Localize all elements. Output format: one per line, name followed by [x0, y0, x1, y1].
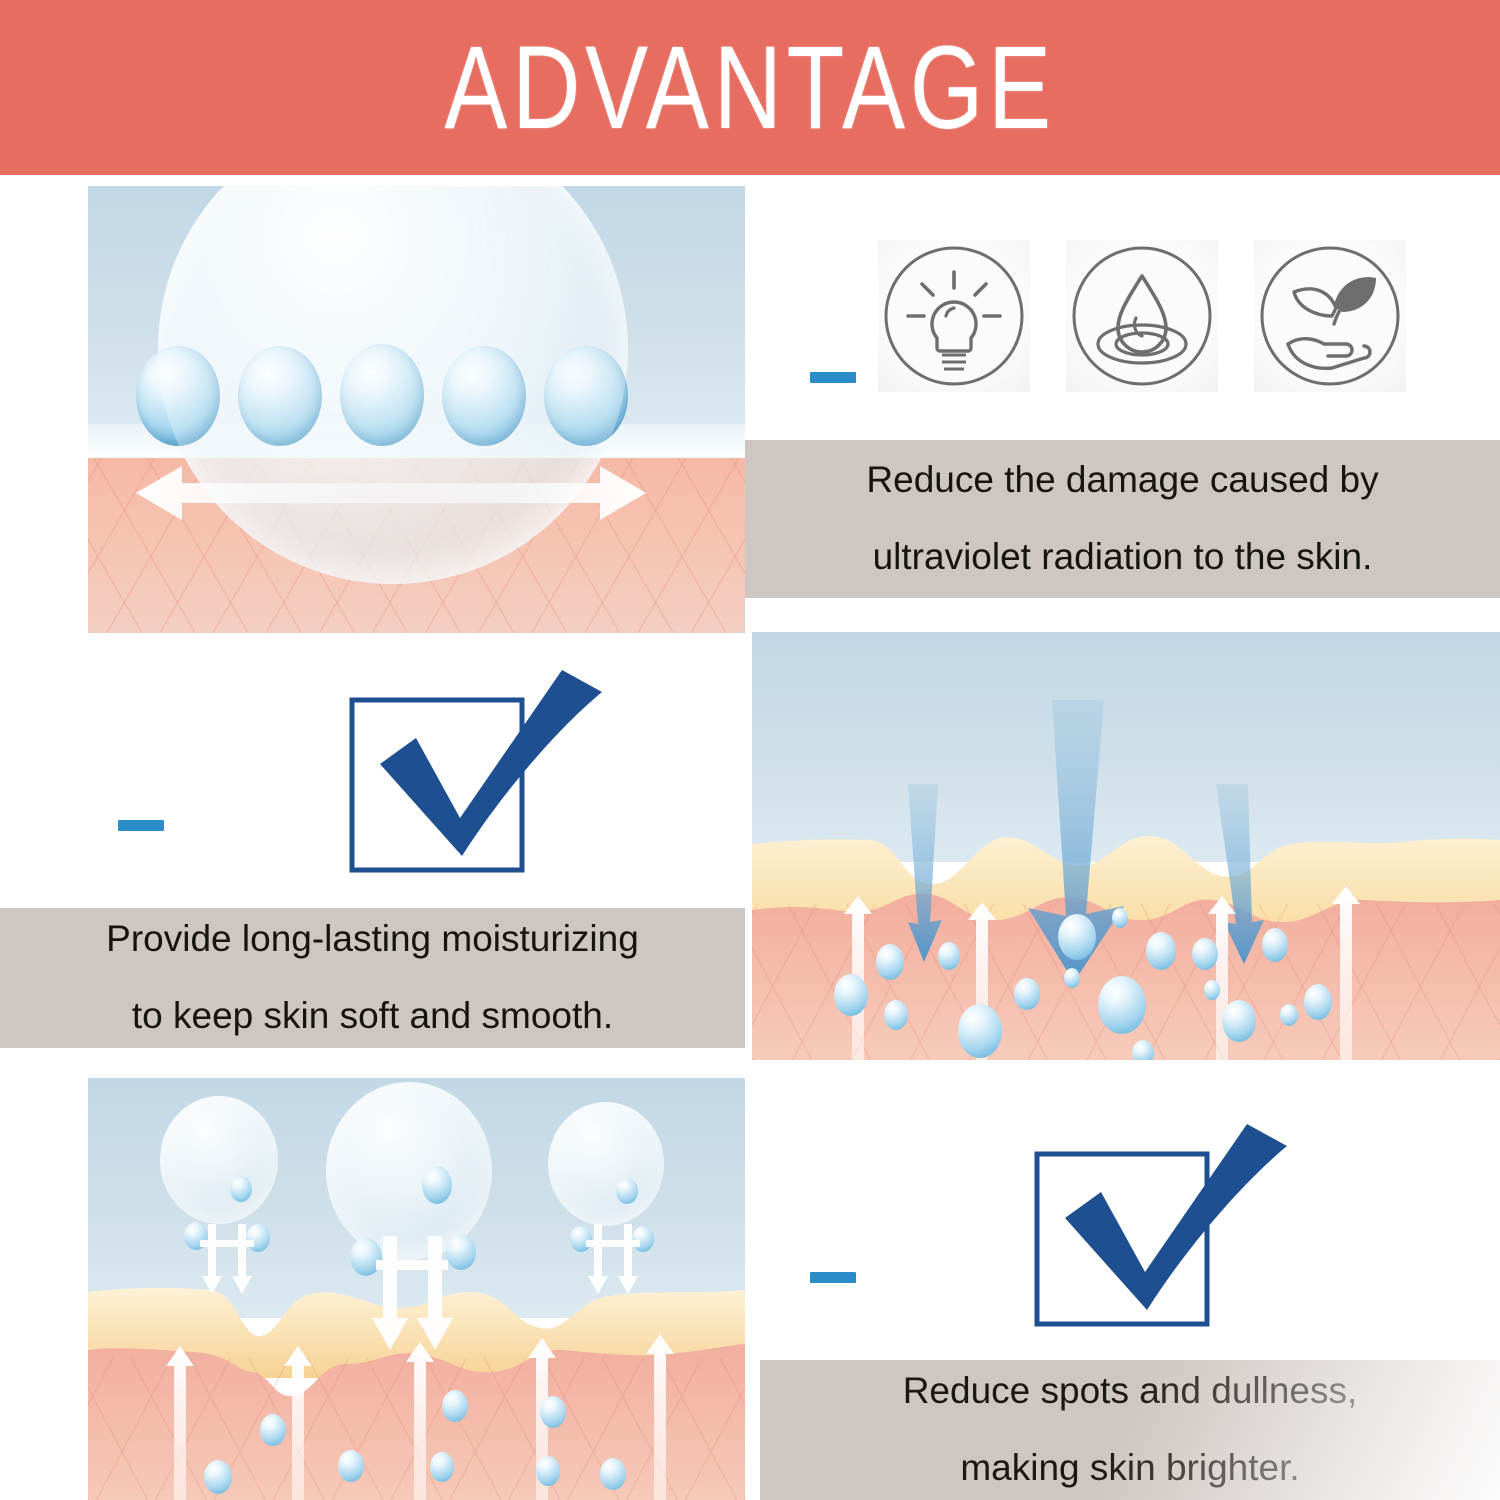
- illustration-bubble-barrier: [88, 186, 745, 633]
- page-header-banner: ADVANTAGE: [0, 0, 1500, 175]
- water-droplet: [442, 1390, 468, 1422]
- water-droplet: [260, 1414, 286, 1446]
- water-droplet: [204, 1460, 232, 1494]
- illustration-absorption: [752, 632, 1500, 1060]
- water-droplet: [1132, 1040, 1154, 1060]
- water-droplet: [1222, 1000, 1256, 1042]
- caption-line-2: making skin brighter.: [960, 1449, 1299, 1488]
- water-droplet: [1112, 908, 1128, 928]
- caption-line-1: Provide long-lasting moisturizing: [106, 920, 639, 959]
- water-droplet: [1204, 980, 1220, 1000]
- water-droplet: [1098, 976, 1146, 1034]
- water-droplet: [884, 1000, 908, 1030]
- water-droplet: [540, 1396, 566, 1428]
- water-droplet: [1304, 984, 1332, 1020]
- checkmark-box-brightening: [1035, 1122, 1295, 1342]
- water-droplet: [1146, 932, 1176, 970]
- water-droplet: [876, 944, 904, 980]
- water-droplet: [938, 942, 960, 970]
- caption-line-2: ultraviolet radiation to the skin.: [873, 538, 1373, 577]
- water-droplet: [1262, 928, 1288, 962]
- caption-line-1: Reduce spots and dullness,: [903, 1372, 1358, 1411]
- benefit-caption-brightening: Reduce spots and dullness, making skin b…: [760, 1360, 1500, 1500]
- feature-icon-row: [878, 240, 1406, 392]
- water-droplet: [1058, 914, 1096, 960]
- water-droplet: [1192, 938, 1218, 970]
- water-droplet: [536, 1456, 560, 1486]
- caption-line-1: Reduce the damage caused by: [866, 461, 1378, 500]
- benefit-caption-moisture: Provide long-lasting moisturizing to kee…: [0, 908, 745, 1048]
- water-droplet: [1064, 968, 1080, 988]
- water-droplet: [600, 1458, 626, 1490]
- moisture-arrows: [88, 1078, 745, 1500]
- water-droplet: [1280, 1004, 1298, 1026]
- page-title: ADVANTAGE: [444, 20, 1055, 156]
- water-droplet: [338, 1450, 364, 1482]
- benefit-marker-dash: [118, 820, 164, 831]
- water-drop-icon: [1066, 240, 1218, 392]
- benefit-caption-uv: Reduce the damage caused by ultraviolet …: [745, 440, 1500, 598]
- caption-line-2: to keep skin soft and smooth.: [132, 997, 613, 1036]
- water-droplet: [1014, 978, 1040, 1010]
- hand-leaf-icon: [1254, 240, 1406, 392]
- lightbulb-icon: [878, 240, 1030, 392]
- water-droplet: [430, 1452, 454, 1482]
- benefit-marker-dash: [810, 1272, 856, 1283]
- illustration-moisture-release: [88, 1078, 745, 1500]
- checkmark-box-moisture: [350, 668, 610, 888]
- benefit-marker-dash: [810, 372, 856, 383]
- water-droplet: [958, 1004, 1002, 1058]
- water-droplet: [834, 974, 868, 1016]
